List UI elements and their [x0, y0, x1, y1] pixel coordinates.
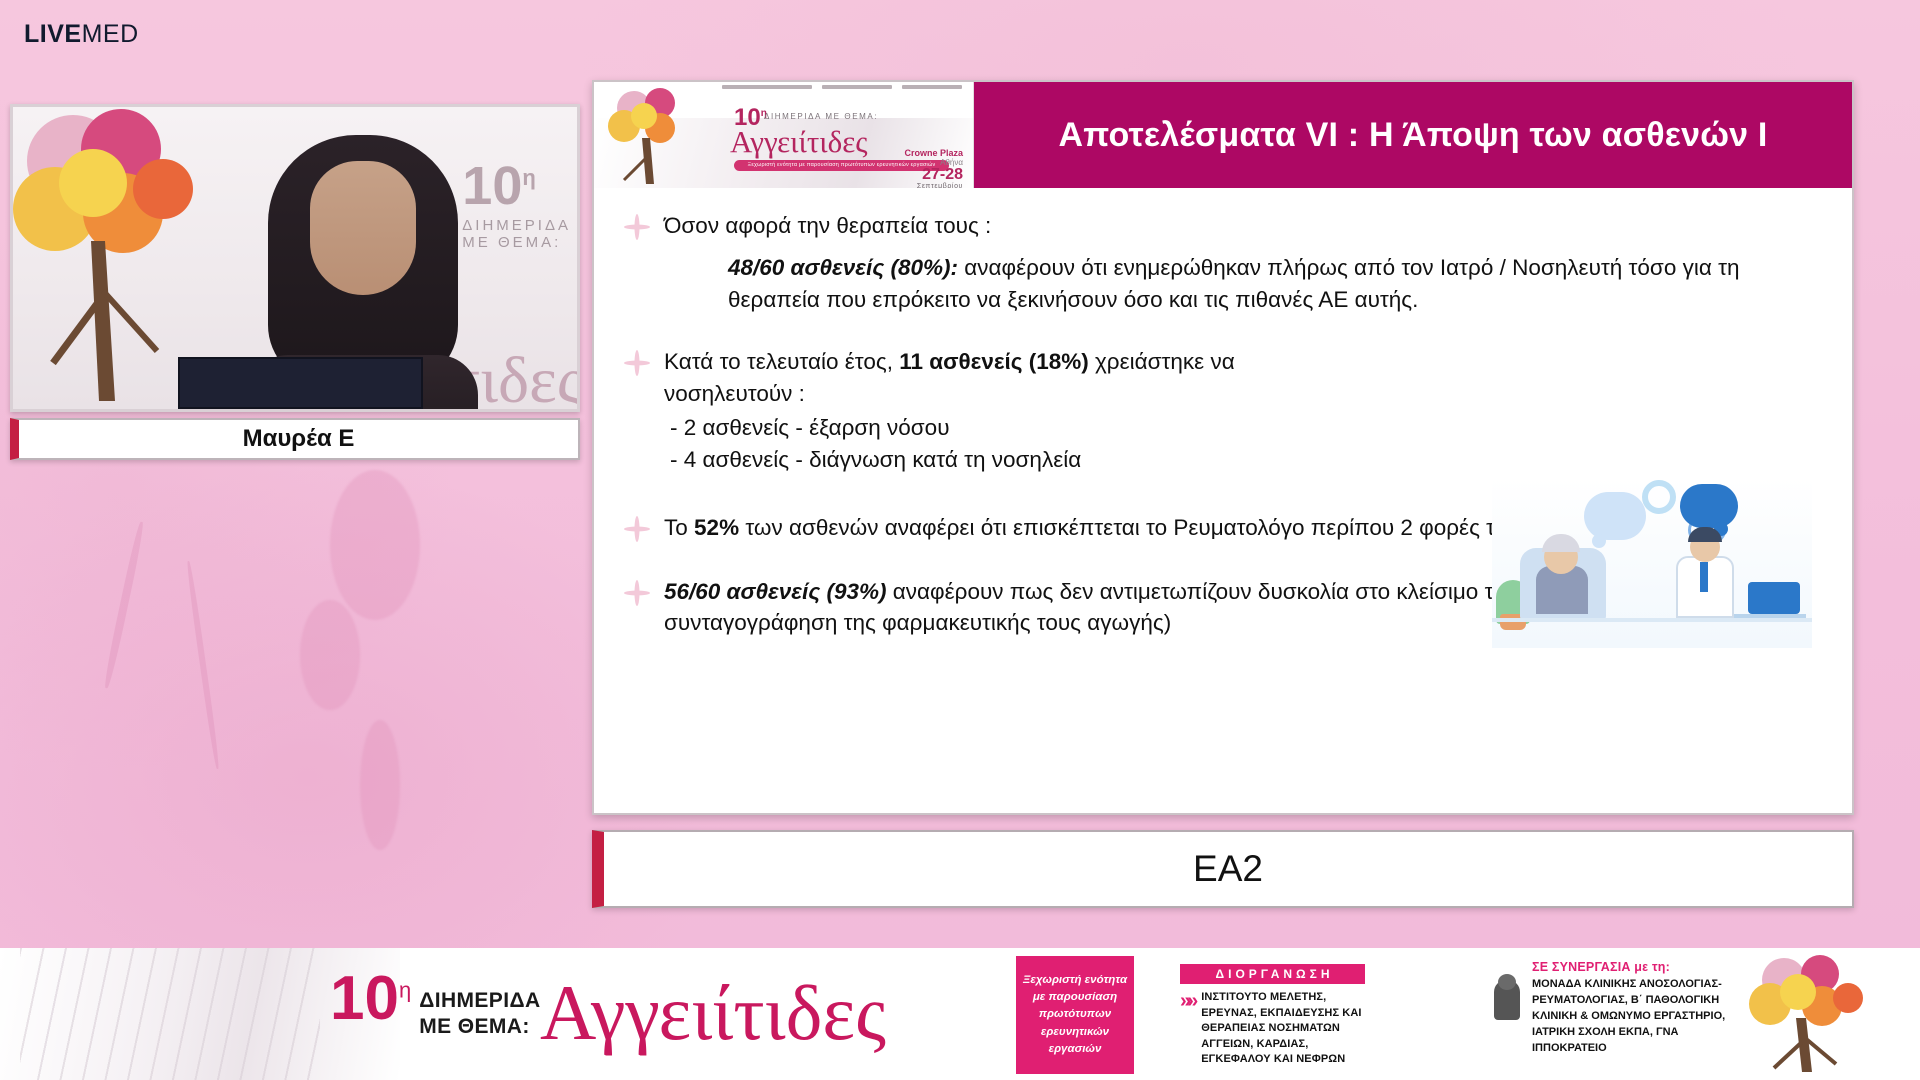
bullet-1-detail-bold: 48/60 ασθενείς (80%): [728, 255, 958, 280]
doctor-tie [1700, 562, 1708, 592]
bullet-3-pre: Το [664, 515, 694, 540]
bg-splatter [360, 720, 400, 850]
footer-organizer-row: »» ΙΝΣΤΙΤΟΥΤΟ ΜΕΛΕΤΗΣ, ΕΡΕΥΝΑΣ, ΕΚΠΑΙΔΕΥ… [1180, 990, 1380, 1068]
footer-subtitle-line1: ΔΙΗΜΕΡΙΔΑ [419, 988, 540, 1014]
banner-subtitle: ΔΙΗΜΕΡΙΔΑ ΜΕ ΘΕΜΑ: [764, 112, 878, 121]
slide-header: 10η ΔΙΗΜΕΡΙΔΑ ΜΕ ΘΕΜΑ: Αγγειίτιδες Ξεχωρ… [594, 82, 1852, 188]
speaker-face [310, 161, 416, 295]
livemed-logo: LIVEMED [24, 20, 139, 49]
presentation-slide[interactable]: 10η ΔΙΗΜΕΡΙΔΑ ΜΕ ΘΕΜΑ: Αγγειίτιδες Ξεχωρ… [592, 80, 1854, 815]
bullet-1-detail: 48/60 ασθενείς (80%): αναφέρουν ότι ενημ… [728, 252, 1822, 316]
slide-inner: 10η ΔΙΗΜΕΡΙΔΑ ΜΕ ΘΕΜΑ: Αγγειίτιδες Ξεχωρ… [592, 80, 1854, 815]
footer-subtitle-line2: ΜΕ ΘΕΜΑ: [419, 1014, 540, 1040]
bullet-4-bold: 56/60 ασθενείς (93%) [664, 579, 887, 604]
bullet-2-pre: Κατά το τελευταίο έτος, [664, 349, 899, 374]
footer-cooperation-title: ΣΕ ΣΥΝΕΡΓΑΣΙΑ με τη: [1532, 960, 1740, 974]
video-overlay-line2: ΜΕ ΘΕΜΑ: [462, 234, 571, 251]
banner-tree-icon [598, 88, 728, 186]
double-chevron-icon: »» [1180, 991, 1194, 1068]
speaker-name: Μαυρέα Ε [243, 425, 355, 453]
star-bullet-icon [624, 516, 650, 542]
bg-splatter [330, 470, 420, 620]
star-bullet-icon [624, 214, 650, 240]
footer-cooperation-text: ΜΟΝΑΔΑ ΚΛΙΝΙΚΗΣ ΑΝΟΣΟΛΟΓΙΑΣ-ΡΕΥΜΑΤΟΛΟΓΙΑ… [1532, 976, 1740, 1056]
bullet-item: Όσον αφορά την θεραπεία τους : [624, 210, 1822, 242]
bullet-1-lead: Όσον αφορά την θεραπεία τους : [664, 210, 991, 242]
slide-body: Όσον αφορά την θεραπεία τους : 48/60 ασθ… [594, 188, 1852, 813]
speech-bubble-icon [1680, 484, 1738, 528]
floor-line [1492, 618, 1812, 622]
bullet-2-sub-2: - 4 ασθενείς - διάγνωση κατά τη νοσηλεία [670, 444, 1822, 476]
bullet-3-bold: 52% [694, 515, 739, 540]
banner-date-block: Crowne Plaza Αθήνα 27-28 Σεπτεμβρίου 2 0… [904, 148, 963, 188]
video-overlay-line1: ΔΙΗΜΕΡΙΔΑ [462, 217, 571, 234]
conference-footer-banner: 10η ΔΙΗΜΕΡΙΔΑ ΜΕ ΘΕΜΑ: Αγγειίτιδες Ξεχωρ… [0, 948, 1920, 1080]
thought-bubble-icon [1584, 492, 1646, 540]
bullet-2-sub-1: - 2 ασθενείς - έξαρση νόσου [670, 412, 1822, 444]
footer-highlight-box: Ξεχωριστή ενότητα με παρουσίαση πρωτότυπ… [1016, 956, 1134, 1074]
footer-organizer-title: ΔΙΟΡΓΑΝΩΣΗ [1180, 964, 1365, 984]
video-overlay-ordinal: 10η [462, 159, 571, 213]
footer-cooperation-block: ΣΕ ΣΥΝΕΡΓΑΣΙΑ με τη: ΜΟΝΑΔΑ ΚΛΙΝΙΚΗΣ ΑΝΟ… [1490, 960, 1740, 1056]
banner-word: Αγγειίτιδες [730, 124, 868, 160]
slide-title: Αποτελέσματα VI : Η Άποψη των ασθενών Ι [1058, 116, 1767, 155]
footer-tree-graphic [1732, 954, 1902, 1074]
logo-live-text: LIVE [24, 20, 82, 48]
university-emblem-icon [1490, 974, 1524, 1022]
footer-organizer-block: ΔΙΟΡΓΑΝΩΣΗ »» ΙΝΣΤΙΤΟΥΤΟ ΜΕΛΕΤΗΣ, ΕΡΕΥΝΑ… [1180, 964, 1380, 1068]
footer-ordinal-block: 10η ΔΙΗΜΕΡΙΔΑ ΜΕ ΘΕΜΑ: [330, 970, 541, 1041]
decorative-ring-icon [1642, 480, 1676, 514]
banner-logo-strip [722, 85, 967, 101]
footer-subtitle: ΔΙΗΜΕΡΙΔΑ ΜΕ ΘΕΜΑ: [419, 988, 540, 1041]
speaker-name-bar: Μαυρέα Ε [10, 418, 580, 460]
bullet-2-text: Κατά το τελευταίο έτος, 11 ασθενείς (18%… [664, 346, 1364, 410]
footer-cooperation-textblock: ΣΕ ΣΥΝΕΡΓΑΣΙΑ με τη: ΜΟΝΑΔΑ ΚΛΙΝΙΚΗΣ ΑΝΟ… [1532, 960, 1740, 1056]
slide-title-bar: Αποτελέσματα VI : Η Άποψη των ασθενών Ι [974, 82, 1852, 188]
speaker-video-panel[interactable]: 10η ΔΙΗΜΕΡΙΔΑ ΜΕ ΘΕΜΑ: τιδες Μαυρέα Ε [10, 104, 580, 460]
star-bullet-icon [624, 350, 650, 376]
abstract-code-label: ΕΑ2 [1193, 848, 1263, 890]
banner-hotel: Crowne Plaza [904, 148, 963, 158]
bg-splatter [300, 600, 360, 710]
logo-med-text: MED [82, 20, 139, 48]
video-overlay-text: 10η ΔΙΗΜΕΡΙΔΑ ΜΕ ΘΕΜΑ: [462, 159, 571, 251]
bullet-2-bold: 11 ασθενείς (18%) [899, 349, 1089, 374]
doctor-patient-illustration [1492, 478, 1812, 648]
footer-organizer-text: ΙΝΣΤΙΤΟΥΤΟ ΜΕΛΕΤΗΣ, ΕΡΕΥΝΑΣ, ΕΚΠΑΙΔΕΥΣΗΣ… [1201, 990, 1380, 1068]
bullet-3-text: Το 52% των ασθενών αναφέρει ότι επισκέπτ… [664, 512, 1574, 544]
video-frame[interactable]: 10η ΔΙΗΜΕΡΙΔΑ ΜΕ ΘΕΜΑ: τιδες [10, 104, 580, 412]
footer-conference-word: Αγγειίτιδες [540, 968, 886, 1058]
abstract-code-box: ΕΑ2 [592, 830, 1854, 908]
banner-dates: 27-28 [904, 167, 963, 183]
laptop-icon [1748, 582, 1800, 614]
footer-ordinal: 10η [330, 970, 411, 1027]
bullet-3-post: των ασθενών αναφέρει ότι επισκέπτεται το… [739, 515, 1574, 540]
bullet-item: Κατά το τελευταίο έτος, 11 ασθενείς (18%… [624, 346, 1822, 410]
laptop-screen [178, 357, 423, 409]
conference-banner: 10η ΔΙΗΜΕΡΙΔΑ ΜΕ ΘΕΜΑ: Αγγειίτιδες Ξεχωρ… [594, 82, 974, 188]
star-bullet-icon [624, 580, 650, 606]
